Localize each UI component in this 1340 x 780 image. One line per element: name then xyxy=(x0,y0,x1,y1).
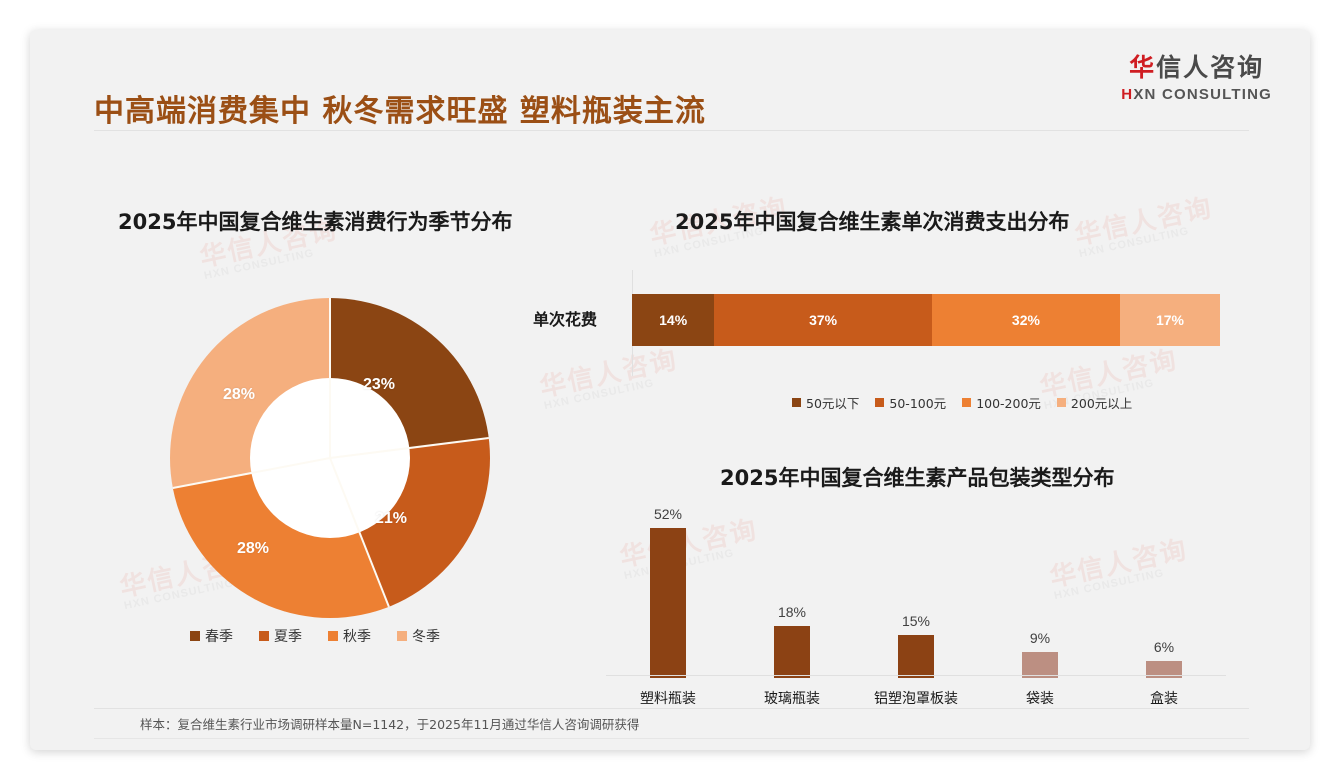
footnote-divider xyxy=(94,708,1249,709)
donut-slice-divider xyxy=(329,298,331,458)
legend-swatch-icon xyxy=(962,398,971,407)
logo-chinese-red: 华 xyxy=(1129,53,1156,82)
logo-english-red: H xyxy=(1121,86,1133,103)
slide-header: 中高端消费集中 秋冬需求旺盛 塑料瓶装主流 华信人咨询 HXN CONSULTI… xyxy=(30,30,1310,125)
legend-item-over-200[interactable]: 200元以上 xyxy=(1057,393,1132,412)
brand-logo: 华信人咨询 HXN CONSULTING xyxy=(1121,55,1272,102)
legend-item-50-100[interactable]: 50-100元 xyxy=(875,393,946,412)
column-bar-category: 铝塑泡罩板装 xyxy=(874,688,958,708)
watermark-en: HXN CONSULTING xyxy=(1078,220,1217,260)
legend-swatch-icon xyxy=(397,631,407,641)
logo-english-rest: XN CONSULTING xyxy=(1133,86,1272,103)
stacked-bar-segment-value: 17% xyxy=(1156,312,1184,328)
column-bar-value: 9% xyxy=(1030,630,1050,646)
column-chart-item: 52%塑料瓶装 xyxy=(606,508,730,678)
watermark-cn: 华信人咨询 xyxy=(538,346,680,401)
watermark-en: HXN CONSULTING xyxy=(203,242,342,282)
column-bar-value: 15% xyxy=(902,613,930,629)
website-url[interactable]: www.hxrcon.com xyxy=(1157,748,1248,750)
stacked-bar-segment-value: 32% xyxy=(1012,312,1040,328)
legend-label: 冬季 xyxy=(412,626,440,646)
legend-swatch-icon xyxy=(875,398,884,407)
legend-label: 春季 xyxy=(205,626,233,646)
column-chart-item: 6%盒装 xyxy=(1102,508,1226,678)
slide-canvas: 华信人咨询 HXN CONSULTING 华信人咨询 HXN CONSULTIN… xyxy=(0,0,1340,780)
column-chart-item: 9%袋装 xyxy=(978,508,1102,678)
donut-value-1: 21% xyxy=(375,510,407,528)
column-bar-value: 18% xyxy=(778,604,806,620)
column-bar-category: 盒装 xyxy=(1150,688,1178,708)
footer-divider xyxy=(94,738,1249,739)
column-bar-category: 袋装 xyxy=(1026,688,1054,708)
legend-item-summer[interactable]: 夏季 xyxy=(259,626,302,646)
page-title: 中高端消费集中 秋冬需求旺盛 塑料瓶装主流 xyxy=(94,86,706,130)
column-bar-category: 塑料瓶装 xyxy=(640,688,696,708)
stacked-bar-legend: 50元以下 50-100元 100-200元 200元以上 xyxy=(792,393,1132,412)
column-chart-title: 2025年中国复合维生素产品包装类型分布 xyxy=(720,462,1114,492)
legend-label: 100-200元 xyxy=(976,393,1041,412)
watermark: 华信人咨询 HXN CONSULTING xyxy=(538,346,683,412)
column-bar-value: 52% xyxy=(654,506,682,522)
stacked-bar-segment-value: 37% xyxy=(809,312,837,328)
column-chart-baseline xyxy=(606,675,1226,676)
legend-swatch-icon xyxy=(259,631,269,641)
logo-chinese-rest: 信人咨询 xyxy=(1156,53,1264,82)
stacked-bar-segment[interactable]: 17% xyxy=(1120,294,1220,346)
legend-label: 夏季 xyxy=(274,626,302,646)
stacked-bar-category-label: 单次花费 xyxy=(533,306,597,330)
legend-swatch-icon xyxy=(190,631,200,641)
legend-label: 50-100元 xyxy=(889,393,946,412)
legend-item-100-200[interactable]: 100-200元 xyxy=(962,393,1041,412)
logo-chinese: 华信人咨询 xyxy=(1121,55,1272,80)
logo-english: HXN CONSULTING xyxy=(1121,87,1272,102)
watermark-en: HXN CONSULTING xyxy=(543,372,682,412)
sample-note: 样本：复合维生素行业市场调研样本量N=1142，于2025年11月通过华信人咨询… xyxy=(140,714,639,733)
watermark-cn: 华信人咨询 xyxy=(1073,194,1215,249)
legend-swatch-icon xyxy=(1057,398,1066,407)
stacked-bar-segment-value: 14% xyxy=(659,312,687,328)
legend-label: 200元以上 xyxy=(1071,393,1132,412)
column-bar[interactable] xyxy=(650,528,686,678)
column-bar[interactable] xyxy=(898,635,934,678)
watermark: 华信人咨询 HXN CONSULTING xyxy=(1073,194,1218,260)
stacked-bar: 14%37%32%17% xyxy=(632,294,1220,346)
column-chart-item: 18%玻璃瓶装 xyxy=(730,508,854,678)
stacked-bar-chart-title: 2025年中国复合维生素单次消费支出分布 xyxy=(675,206,1069,236)
column-bar-category: 玻璃瓶装 xyxy=(764,688,820,708)
legend-item-spring[interactable]: 春季 xyxy=(190,626,233,646)
donut-value-2: 28% xyxy=(237,540,269,558)
column-bar[interactable] xyxy=(774,626,810,678)
column-chart-item: 15%铝塑泡罩板装 xyxy=(854,508,978,678)
stacked-bar-segment[interactable]: 14% xyxy=(632,294,714,346)
legend-item-winter[interactable]: 冬季 xyxy=(397,626,440,646)
donut-legend: 春季 夏季 秋季 冬季 xyxy=(190,626,440,646)
legend-label: 秋季 xyxy=(343,626,371,646)
title-divider xyxy=(94,130,1249,131)
legend-item-autumn[interactable]: 秋季 xyxy=(328,626,371,646)
packaging-column-chart: 52%塑料瓶装18%玻璃瓶装15%铝塑泡罩板装9%袋装6%盒装 xyxy=(606,508,1226,678)
slide-card: 华信人咨询 HXN CONSULTING 华信人咨询 HXN CONSULTIN… xyxy=(30,30,1310,750)
donut-value-3: 28% xyxy=(223,386,255,404)
stacked-bar-segment[interactable]: 37% xyxy=(714,294,932,346)
copyright-text: ©2026.1 HXR华信人咨询 xyxy=(94,748,237,750)
legend-item-under-50[interactable]: 50元以下 xyxy=(792,393,859,412)
column-bar-value: 6% xyxy=(1154,639,1174,655)
season-donut-chart: 23% 21% 28% 28% xyxy=(170,298,490,618)
legend-swatch-icon xyxy=(792,398,801,407)
legend-label: 50元以下 xyxy=(806,393,859,412)
legend-swatch-icon xyxy=(328,631,338,641)
stacked-bar-segment[interactable]: 32% xyxy=(932,294,1120,346)
donut-value-0: 23% xyxy=(363,376,395,394)
donut-chart-title: 2025年中国复合维生素消费行为季节分布 xyxy=(118,206,512,236)
